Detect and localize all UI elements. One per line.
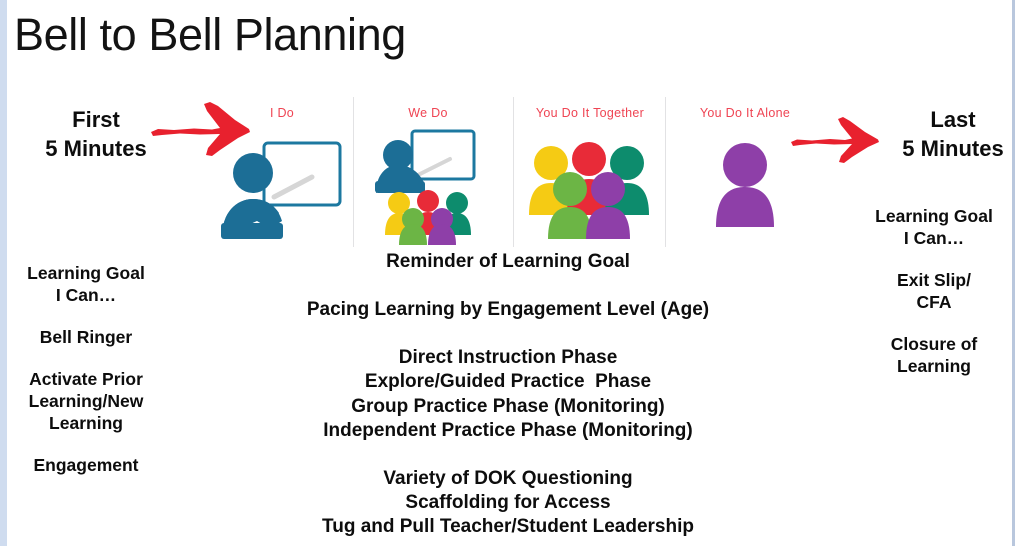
right-item-closure-line1: Closure of: [850, 333, 1018, 355]
slide-canvas: Bell to Bell Planning First 5 Minutes La…: [0, 0, 1024, 546]
center-strategy-dok: Variety of DOK Questioning: [252, 467, 764, 491]
last-label-line1: Last: [888, 106, 1018, 135]
center-phase-direct-instruction: Direct Instruction Phase: [252, 346, 764, 370]
left-item-activate-prior-line3: Learning: [0, 412, 172, 434]
first-label-line2: 5 Minutes: [28, 135, 164, 164]
panel-you-do-it-together: You Do It Together: [514, 97, 666, 247]
panel-label-you-do-it-together: You Do It Together: [514, 106, 666, 120]
panel-label-i-do: I Do: [212, 106, 352, 120]
left-item-learning-goal-line1: Learning Goal: [0, 262, 172, 284]
center-phase-independent-practice: Independent Practice Phase (Monitoring): [252, 419, 764, 443]
panel-you-do-it-alone: You Do It Alone: [678, 97, 812, 247]
panel-i-do: I Do: [212, 97, 352, 247]
left-item-activate-prior-line2: Learning/New: [0, 390, 172, 412]
spacer: [252, 274, 764, 298]
teacher-board-icon: [212, 125, 352, 245]
spacer: [252, 322, 764, 346]
page-title: Bell to Bell Planning: [14, 8, 406, 61]
single-student-icon: [678, 125, 812, 245]
teacher-with-students-icon: [354, 125, 502, 245]
last-five-minutes-label: Last 5 Minutes: [888, 106, 1018, 163]
center-strategy-tug-and-pull: Tug and Pull Teacher/Student Leadership: [252, 515, 764, 539]
last-label-line2: 5 Minutes: [888, 135, 1018, 164]
center-heading-reminder: Reminder of Learning Goal: [252, 250, 764, 274]
center-heading-pacing: Pacing Learning by Engagement Level (Age…: [252, 298, 764, 322]
last-five-minutes-list: Learning Goal I Can… Exit Slip/ CFA Clos…: [850, 205, 1018, 377]
right-item-learning-goal-line1: Learning Goal: [850, 205, 1018, 227]
right-item-exit-slip-line2: CFA: [850, 291, 1018, 313]
spacer: [252, 443, 764, 467]
center-strategy-scaffolding: Scaffolding for Access: [252, 491, 764, 515]
spacer: [850, 249, 1018, 269]
left-item-activate-prior-line1: Activate Prior: [0, 368, 172, 390]
right-edge-fill: [1015, 0, 1024, 546]
spacer: [0, 434, 172, 454]
right-item-exit-slip-line1: Exit Slip/: [850, 269, 1018, 291]
first-five-minutes-label: First 5 Minutes: [28, 106, 164, 163]
left-item-engagement: Engagement: [0, 454, 172, 476]
left-item-bell-ringer: Bell Ringer: [0, 326, 172, 348]
panel-label-you-do-it-alone: You Do It Alone: [678, 106, 812, 120]
left-item-learning-goal-line2: I Can…: [0, 284, 172, 306]
center-phase-group-practice: Group Practice Phase (Monitoring): [252, 395, 764, 419]
panel-label-we-do: We Do: [354, 106, 502, 120]
spacer: [850, 313, 1018, 333]
first-five-minutes-list: Learning Goal I Can… Bell Ringer Activat…: [0, 262, 172, 476]
center-phase-explore-guided: Explore/Guided Practice Phase: [252, 370, 764, 394]
spacer: [0, 306, 172, 326]
first-label-line1: First: [28, 106, 164, 135]
panel-we-do: We Do: [354, 97, 502, 247]
spacer: [0, 348, 172, 368]
right-item-learning-goal-line2: I Can…: [850, 227, 1018, 249]
gradual-release-panels: I Do We Do: [212, 97, 812, 247]
right-item-closure-line2: Learning: [850, 355, 1018, 377]
instructional-core-list: Reminder of Learning Goal Pacing Learnin…: [252, 250, 764, 539]
student-group-icon: [514, 125, 666, 245]
